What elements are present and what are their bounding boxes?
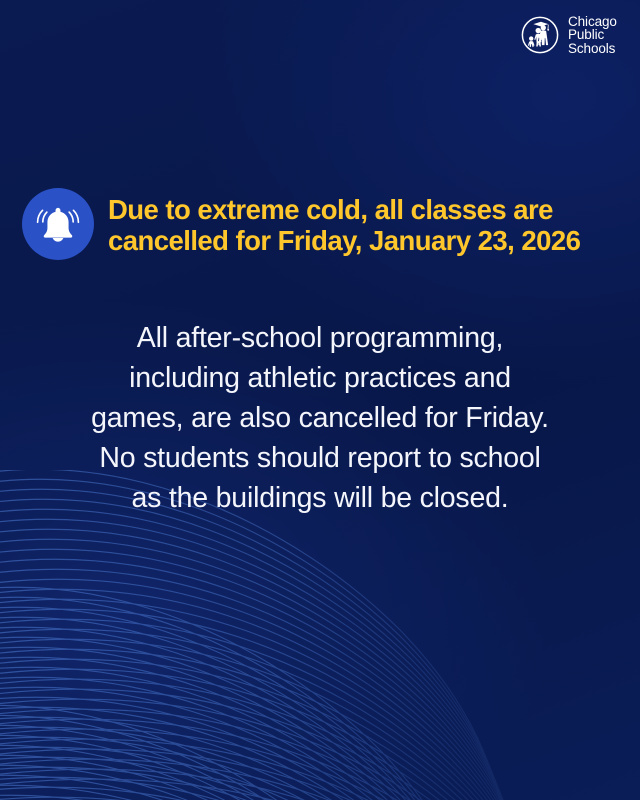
cps-logo: Chicago Public Schools [518,10,630,60]
announcement-poster: Chicago Public Schools Due to extrem [0,0,640,800]
logo-line-1: Chicago [568,15,617,28]
alert-headline-row: Due to extreme cold, all classes are can… [22,186,622,260]
logo-line-2: Public [568,28,617,41]
announcement-body: All after-school programming, including … [0,318,640,518]
logo-line-3: Schools [568,42,617,55]
cps-logo-wordmark: Chicago Public Schools [568,15,617,55]
cps-students-graduate-circle-icon [518,13,562,57]
body-line-1: All after-school programming, [0,318,640,358]
alert-headline: Due to extreme cold, all classes are can… [108,186,580,256]
body-line-5: as the buildings will be closed. [0,478,640,518]
headline-line-2: cancelled for Friday, January 23, 2026 [108,225,580,256]
body-line-2: including athletic practices and [0,358,640,398]
bell-badge [22,188,94,260]
headline-line-1: Due to extreme cold, all classes are [108,194,580,225]
decorative-swirl-pattern [0,470,640,800]
body-line-3: games, are also cancelled for Friday. [0,398,640,438]
bell-icon [35,201,81,247]
body-line-4: No students should report to school [0,438,640,478]
